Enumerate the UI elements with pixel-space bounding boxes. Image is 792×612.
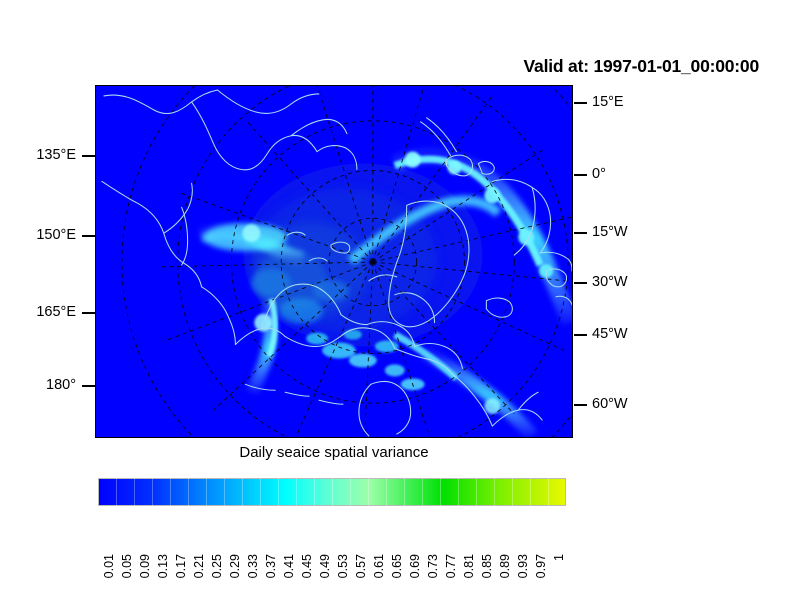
colorbar-band-divider xyxy=(224,478,225,506)
axis-label-right: 15°E xyxy=(592,94,624,110)
axis-label-right: 15°W xyxy=(592,224,628,240)
colorbar-band-divider xyxy=(440,478,441,506)
tick-mark xyxy=(82,312,95,314)
axis-label-left: 135°E xyxy=(0,147,76,163)
chart-caption: Daily seaice spatial variance xyxy=(95,444,573,461)
colorbar-band-divider xyxy=(188,478,189,506)
axis-label-right: 30°W xyxy=(592,274,628,290)
colorbar-tick-labels: 0.010.050.090.130.170.210.250.290.330.37… xyxy=(98,508,566,568)
colorbar-band-divider xyxy=(548,478,549,506)
colorbar-tick-label: 0.89 xyxy=(498,554,512,578)
colorbar-tick-label: 0.97 xyxy=(534,554,548,578)
tick-mark xyxy=(82,385,95,387)
colorbar-tick-label: 0.01 xyxy=(102,554,116,578)
colorbar-band-divider xyxy=(260,478,261,506)
colorbar-tick-label: 0.09 xyxy=(138,554,152,578)
colorbar-tick-label: 0.81 xyxy=(462,554,476,578)
colorbar-band-divider xyxy=(386,478,387,506)
tick-mark xyxy=(574,174,587,176)
colorbar-band-divider xyxy=(134,478,135,506)
tick-mark xyxy=(82,155,95,157)
colorbar-band-divider xyxy=(350,478,351,506)
colorbar-band-divider xyxy=(404,478,405,506)
colorbar-band-divider xyxy=(476,478,477,506)
colorbar-band-divider xyxy=(494,478,495,506)
axis-label-left: 165°E xyxy=(0,304,76,320)
colorbar-band-divider xyxy=(206,478,207,506)
colorbar-band-separators xyxy=(98,478,566,506)
figure-root: Valid at: 1997-01-01_00:00:00 xyxy=(0,0,792,612)
colorbar-tick-label: 1 xyxy=(552,554,566,561)
colorbar-band-divider xyxy=(530,478,531,506)
tick-mark xyxy=(82,235,95,237)
colorbar-band-divider xyxy=(170,478,171,506)
colorbar-tick-label: 0.37 xyxy=(264,554,278,578)
map-plot-area[interactable] xyxy=(95,85,573,438)
axis-label-right: 0° xyxy=(592,166,606,182)
colorbar-band-divider xyxy=(332,478,333,506)
colorbar-tick-label: 0.61 xyxy=(372,554,386,578)
colorbar-tick-label: 0.21 xyxy=(192,554,206,578)
colorbar-tick-label: 0.17 xyxy=(174,554,188,578)
colorbar-tick-label: 0.29 xyxy=(228,554,242,578)
colorbar-band-divider xyxy=(116,478,117,506)
colorbar-tick-label: 0.45 xyxy=(300,554,314,578)
tick-mark xyxy=(574,334,587,336)
colorbar-tick-label: 0.57 xyxy=(354,554,368,578)
colorbar-band-divider xyxy=(242,478,243,506)
colorbar-band-divider xyxy=(458,478,459,506)
tick-mark xyxy=(574,232,587,234)
colorbar-tick-label: 0.53 xyxy=(336,554,350,578)
colorbar-tick-label: 0.41 xyxy=(282,554,296,578)
colorbar-band-divider xyxy=(296,478,297,506)
colorbar-tick-label: 0.69 xyxy=(408,554,422,578)
axis-label-left: 180° xyxy=(0,377,76,393)
colorbar-tick-label: 0.25 xyxy=(210,554,224,578)
page-title: Valid at: 1997-01-01_00:00:00 xyxy=(524,56,759,77)
tick-mark xyxy=(574,102,587,104)
colorbar-band-divider xyxy=(512,478,513,506)
colorbar-tick-label: 0.65 xyxy=(390,554,404,578)
colorbar[interactable] xyxy=(98,478,566,506)
colorbar-band-divider xyxy=(368,478,369,506)
map-canvas xyxy=(96,86,572,437)
tick-mark xyxy=(574,404,587,406)
colorbar-tick-label: 0.49 xyxy=(318,554,332,578)
colorbar-tick-label: 0.05 xyxy=(120,554,134,578)
axis-label-left: 150°E xyxy=(0,227,76,243)
colorbar-tick-label: 0.85 xyxy=(480,554,494,578)
colorbar-band-divider xyxy=(278,478,279,506)
colorbar-band-divider xyxy=(422,478,423,506)
axis-label-right: 60°W xyxy=(592,396,628,412)
colorbar-band-divider xyxy=(152,478,153,506)
colorbar-tick-label: 0.33 xyxy=(246,554,260,578)
colorbar-tick-label: 0.73 xyxy=(426,554,440,578)
colorbar-tick-label: 0.93 xyxy=(516,554,530,578)
tick-mark xyxy=(574,282,587,284)
colorbar-tick-label: 0.77 xyxy=(444,554,458,578)
colorbar-band-divider xyxy=(314,478,315,506)
axis-label-right: 45°W xyxy=(592,326,628,342)
colorbar-tick-label: 0.13 xyxy=(156,554,170,578)
